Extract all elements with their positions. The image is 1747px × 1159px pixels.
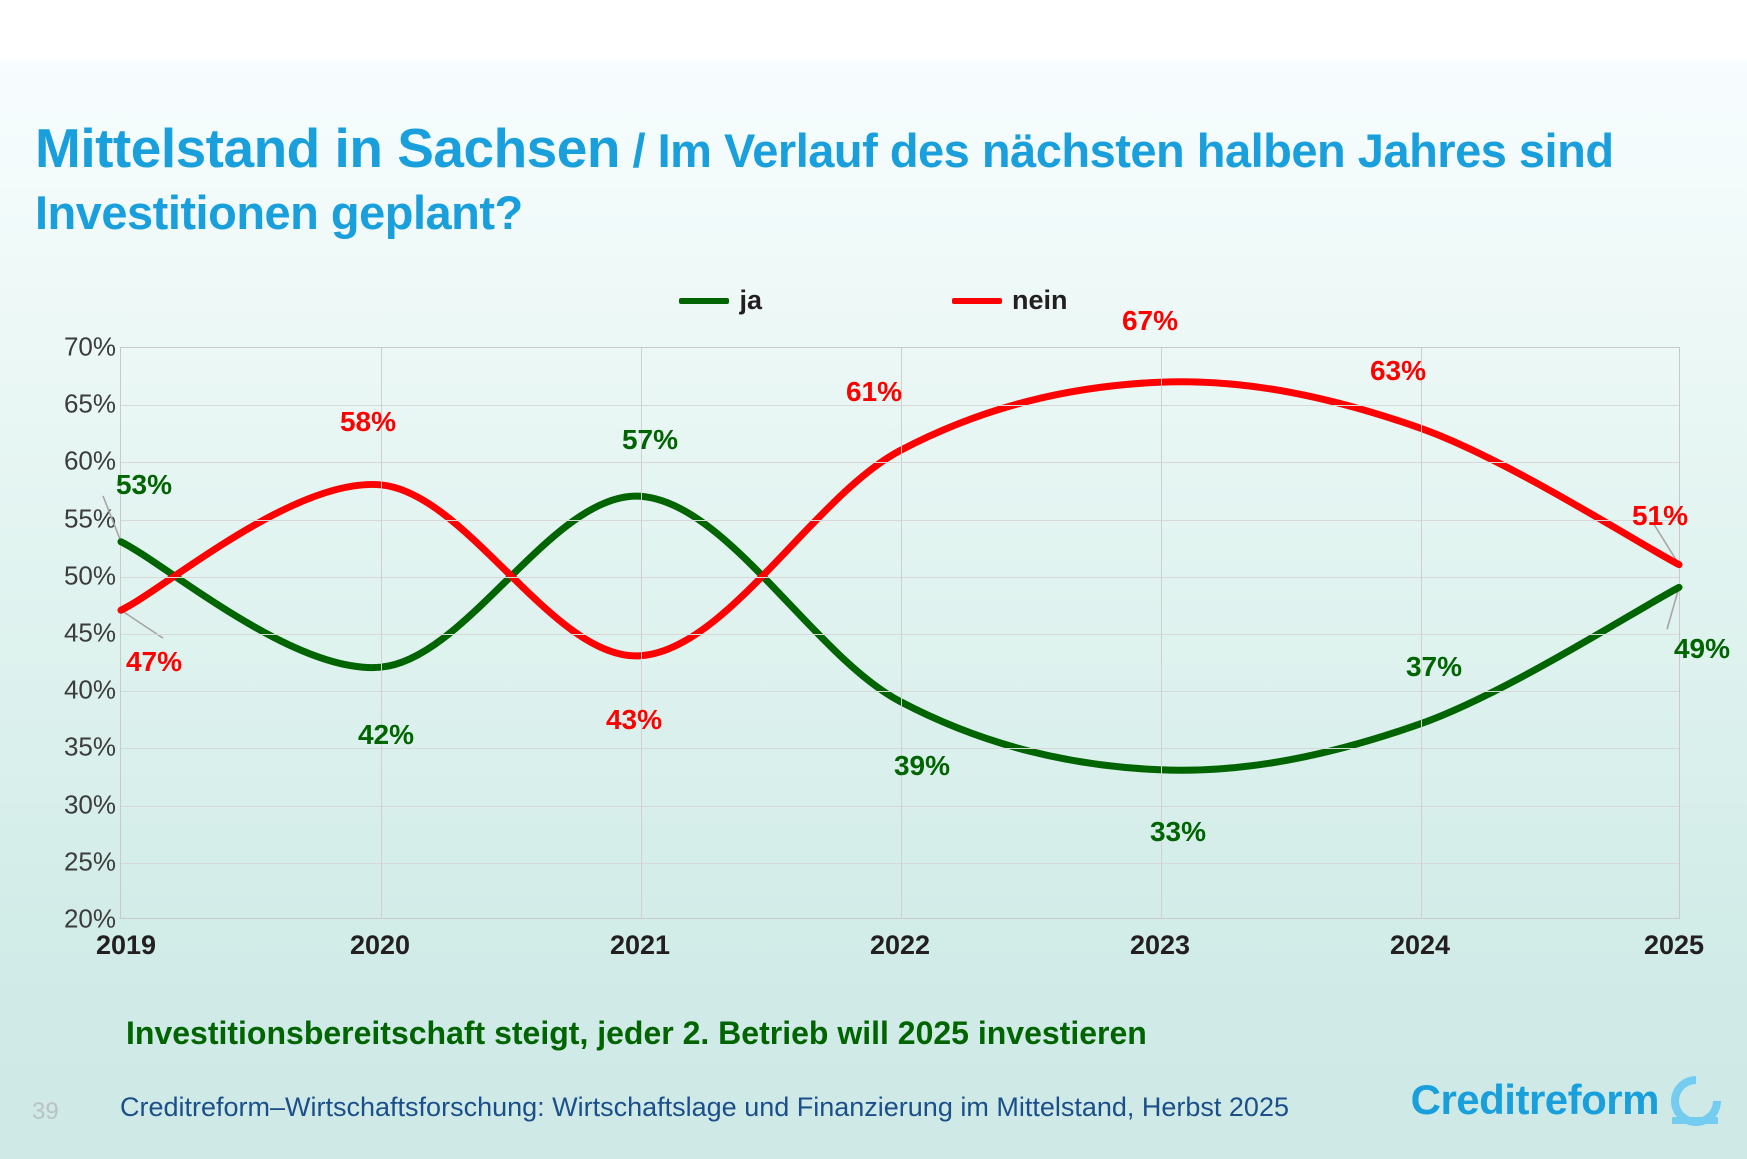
creditreform-logo: Creditreform [1411,1076,1715,1124]
data-label-nein-2022: 61% [846,376,902,408]
data-label-nein-2024: 63% [1370,355,1426,387]
legend-swatch-ja [679,298,729,304]
gridline-horizontal [121,577,1679,578]
data-label-ja-2023: 33% [1150,816,1206,848]
gridline-horizontal [121,520,1679,521]
slide-canvas: Mittelstand in Sachsen / Im Verlauf des … [0,0,1747,1159]
gridline-vertical [1421,348,1422,918]
x-axis-tick: 2019 [96,930,156,961]
y-axis-tick: 35% [64,732,116,763]
data-label-ja-2024: 37% [1406,651,1462,683]
x-axis-tick-labels: 2019202020212022202320242025 [120,930,1680,974]
legend-item-ja[interactable]: ja [679,285,762,316]
gridline-horizontal [121,806,1679,807]
y-axis-tick: 65% [64,389,116,420]
data-label-nein-2023: 67% [1122,305,1178,337]
x-axis-tick: 2025 [1644,930,1704,961]
y-axis-tick: 70% [64,332,116,363]
legend-label-ja: ja [739,285,762,316]
y-axis-tick: 50% [64,560,116,591]
legend-label-nein: nein [1012,285,1068,316]
y-axis-tick: 25% [64,846,116,877]
x-axis-tick: 2024 [1390,930,1450,961]
page-number: 39 [32,1098,59,1126]
creditreform-c-mark-icon [1671,1076,1715,1124]
x-axis-tick: 2022 [870,930,930,961]
legend-item-nein[interactable]: nein [952,285,1068,316]
x-axis-tick: 2023 [1130,930,1190,961]
y-axis-tick: 60% [64,446,116,477]
y-axis-tick: 30% [64,789,116,820]
data-label-ja-2020: 42% [358,719,414,751]
data-label-nein-2021: 43% [606,704,662,736]
data-label-nein-2019: 47% [126,646,182,678]
data-label-nein-2020: 58% [340,406,396,438]
gridline-vertical [901,348,902,918]
title-strong: Mittelstand in Sachsen [35,117,620,179]
y-axis-tick: 45% [64,618,116,649]
chart-legend: ja nein [0,285,1747,316]
gridline-horizontal [121,634,1679,635]
data-label-ja-2022: 39% [894,750,950,782]
gridline-horizontal [121,691,1679,692]
x-axis-tick: 2021 [610,930,670,961]
page-title: Mittelstand in Sachsen / Im Verlauf des … [35,118,1675,241]
source-note: Creditreform–Wirtschaftsforschung: Wirts… [120,1092,1289,1123]
y-axis-tick: 40% [64,675,116,706]
data-label-ja-2019: 53% [116,469,172,501]
legend-swatch-nein [952,298,1002,304]
chart-statement: Investitionsbereitschaft steigt, jeder 2… [126,1015,1147,1052]
x-axis-tick: 2020 [350,930,410,961]
y-axis-tick-labels: 20%25%30%35%40%45%50%55%60%65%70% [38,330,116,930]
logo-wordmark: Creditreform [1411,1076,1659,1124]
gridline-horizontal [121,462,1679,463]
gridline-horizontal [121,863,1679,864]
data-label-ja-2021: 57% [622,424,678,456]
data-label-nein-2025: 51% [1632,500,1688,532]
data-label-ja-2025: 49% [1674,633,1730,665]
